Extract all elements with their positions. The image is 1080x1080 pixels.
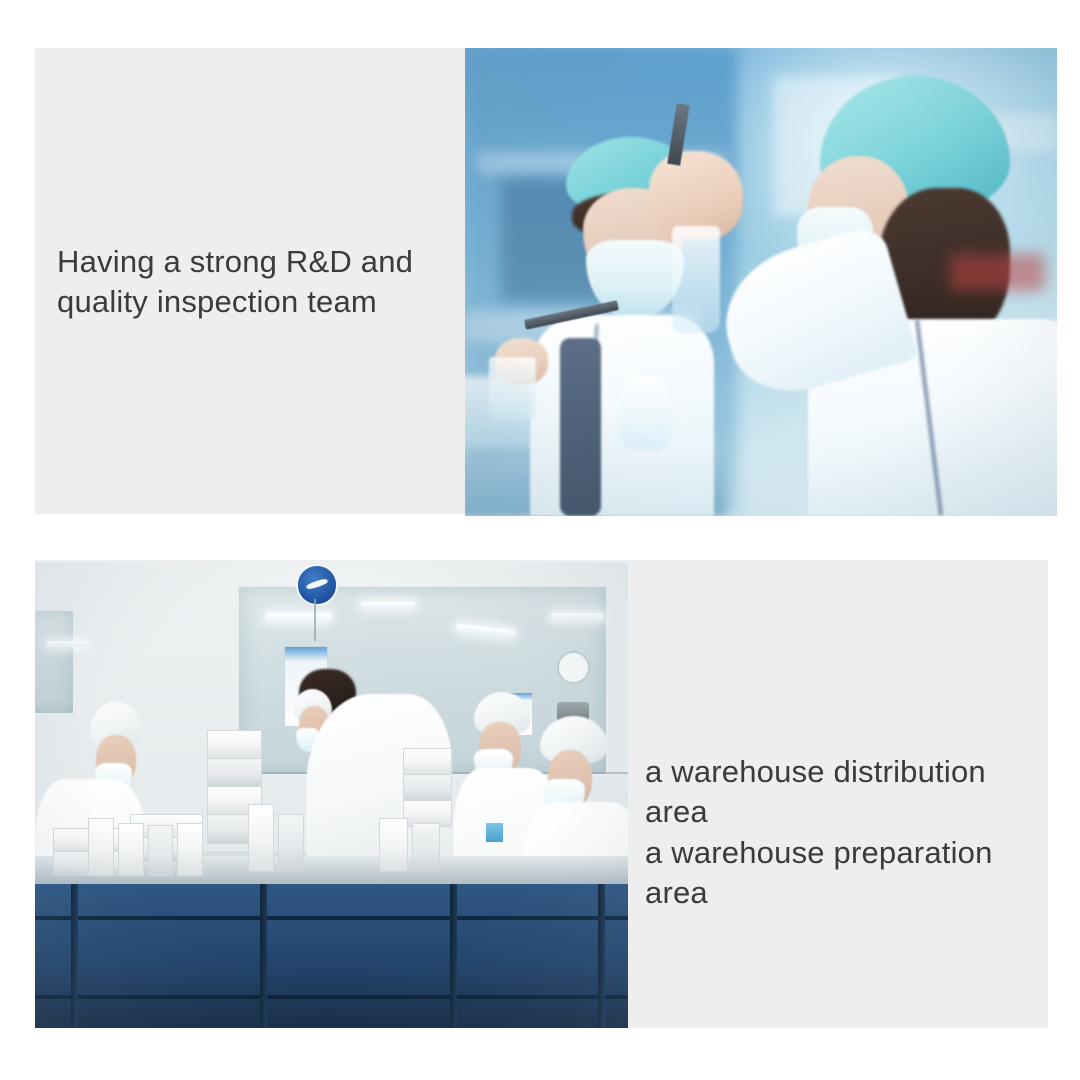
- warehouse-caption-text: a warehouse distribution area a warehous…: [645, 752, 1045, 913]
- warehouse-scene: [35, 562, 628, 1028]
- warehouse-photo: [35, 562, 628, 1028]
- lab-scene: [465, 48, 1057, 516]
- lab-vignette: [465, 48, 1057, 516]
- warehouse-vignette: [35, 562, 628, 1028]
- rnd-caption-text: Having a strong R&D and quality inspecti…: [57, 242, 477, 323]
- poster-canvas: Having a strong R&D and quality inspecti…: [0, 0, 1080, 1080]
- rnd-photo: [465, 48, 1057, 516]
